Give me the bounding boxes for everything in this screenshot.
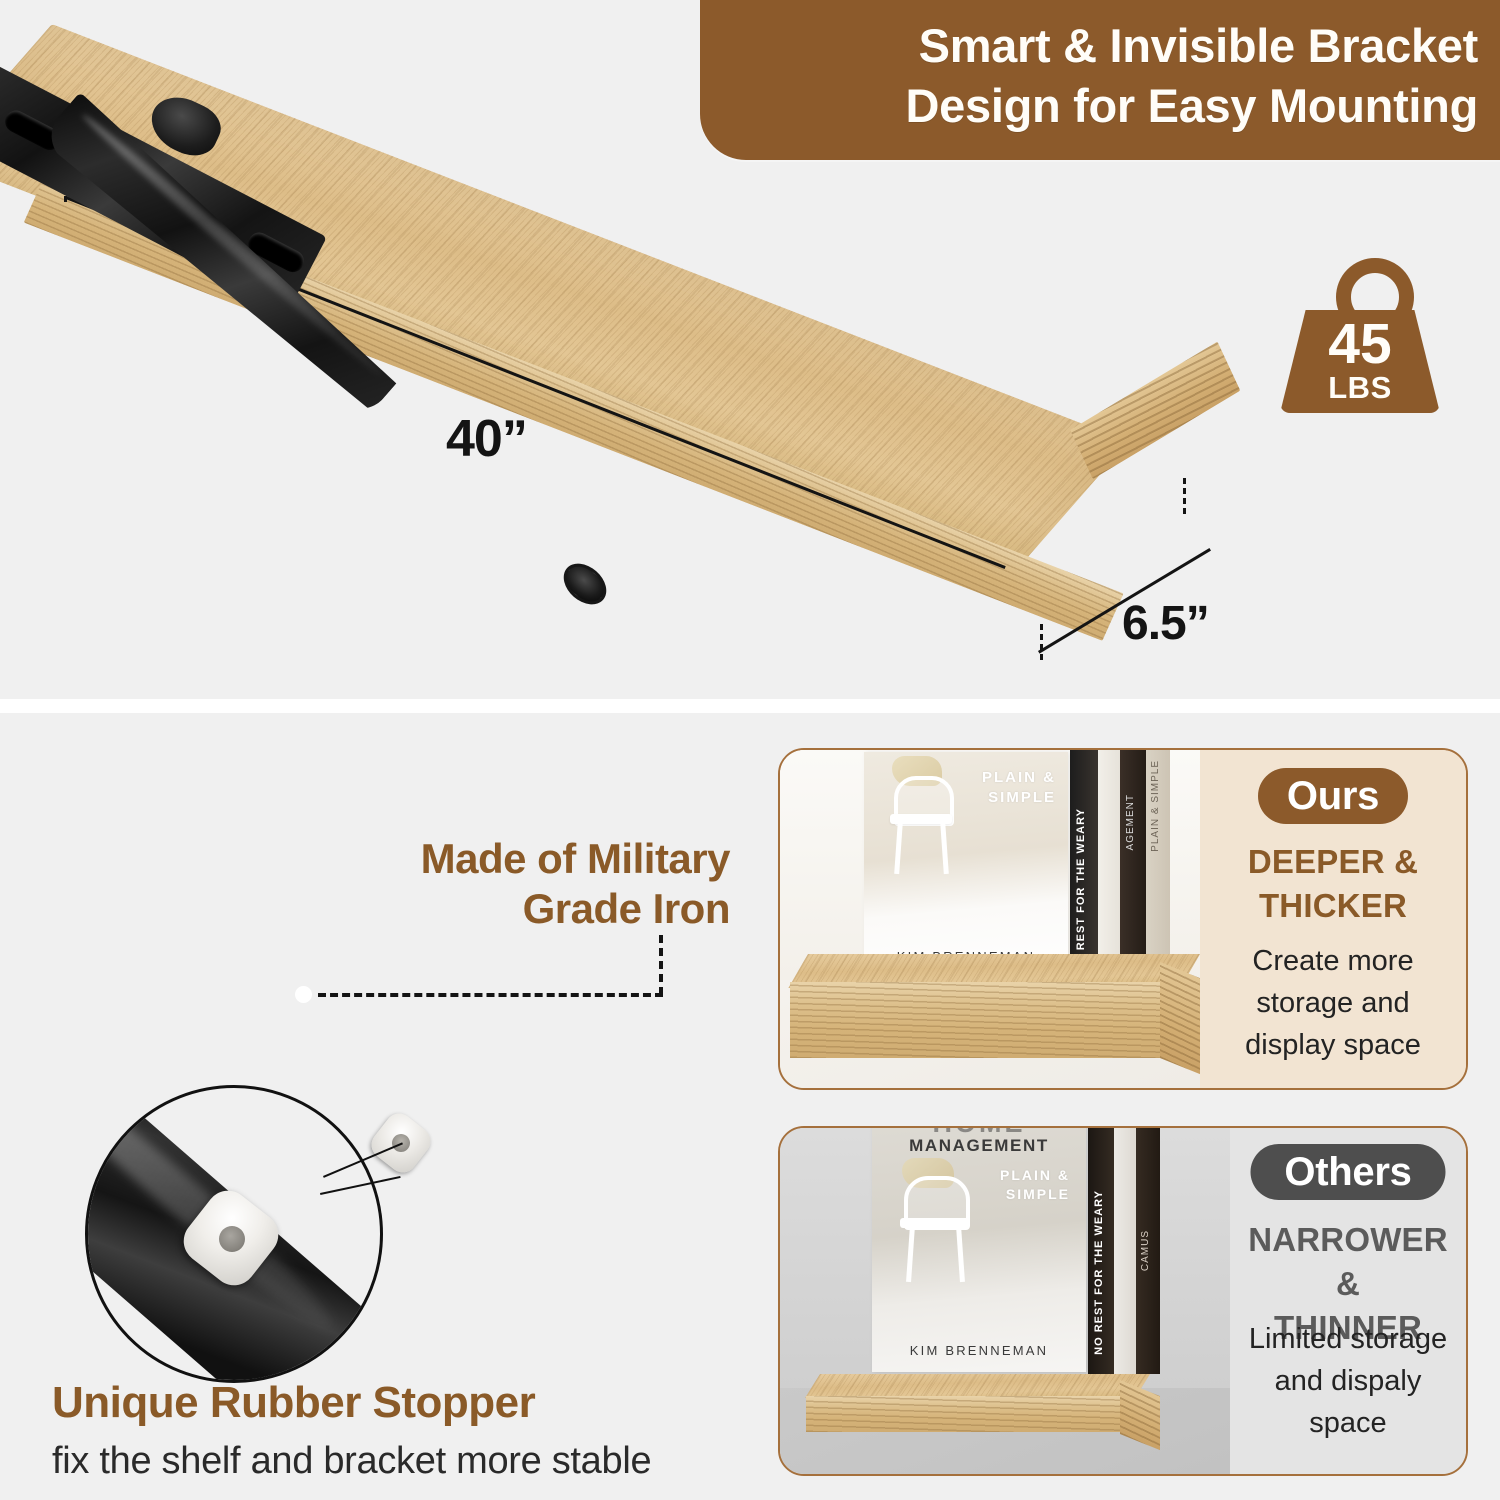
iron-callout-dashed-elbow — [659, 935, 663, 995]
chair-leg — [956, 1226, 965, 1282]
others-book-title-line1: PLAIN & — [1000, 1166, 1070, 1185]
others-text-panel: Others NARROWER & THINNER Limited storag… — [1230, 1128, 1466, 1474]
ours-heading-line1: DEEPER & — [1208, 840, 1458, 884]
comparison-card-others: HOME MANAGEMENT PLAIN & SIMPLE KIM BRENN… — [778, 1126, 1468, 1476]
length-dimension-label: 40” — [446, 409, 527, 469]
weight-value: 45 — [1280, 316, 1440, 373]
ours-book-chair-graphic — [884, 770, 962, 878]
header-title-line1: Smart & Invisible Bracket — [700, 16, 1478, 76]
others-book-title-line2: SIMPLE — [1000, 1185, 1070, 1204]
chair-leg — [894, 822, 903, 874]
others-book-title: PLAIN & SIMPLE — [1000, 1166, 1070, 1204]
others-badge: Others — [1251, 1144, 1446, 1200]
ours-book-title-line1: PLAIN & — [982, 768, 1056, 788]
rubber-stopper-subtitle: fix the shelf and bracket more stable — [52, 1440, 651, 1483]
military-grade-line1: Made of Military — [330, 834, 730, 884]
section-divider — [0, 699, 1500, 713]
infographic-page: 40” 6.5” Smart & Invisible Bracket Desig… — [0, 0, 1500, 1500]
ours-book-title: PLAIN & SIMPLE — [982, 768, 1056, 808]
ours-body-line3: display space — [1210, 1024, 1456, 1066]
chair-leg — [906, 1226, 915, 1282]
ours-shelf-end — [1160, 962, 1200, 1081]
military-grade-line2: Grade Iron — [330, 884, 730, 934]
others-book-cover: HOME MANAGEMENT PLAIN & SIMPLE KIM BRENN… — [872, 1128, 1086, 1372]
others-body-line2: and dispaly — [1240, 1360, 1456, 1402]
depth-extension-tick-right — [1183, 478, 1186, 514]
ours-book-title-line2: SIMPLE — [982, 788, 1056, 808]
ours-photo: PLAIN & SIMPLE KIM BRENNEMAN NO REST FOR… — [780, 750, 1200, 1088]
chair-leg — [940, 822, 949, 874]
others-book-spine: CAMUS — [1136, 1128, 1160, 1374]
ours-heading-line2: THICKER — [1208, 884, 1458, 928]
ours-heading: DEEPER & THICKER — [1208, 840, 1458, 928]
magnifier-callout — [85, 1085, 383, 1383]
header-title-line2: Design for Easy Mounting — [700, 76, 1478, 136]
ours-book-spine: AGEMENT — [1120, 750, 1146, 982]
others-body-line1: Limited storage — [1240, 1318, 1456, 1360]
others-spine-text: NO REST FOR THE WEARY — [1093, 1190, 1105, 1355]
others-book-spine — [1114, 1128, 1136, 1374]
comparison-card-ours: PLAIN & SIMPLE KIM BRENNEMAN NO REST FOR… — [778, 748, 1468, 1090]
top-product-section: 40” 6.5” Smart & Invisible Bracket Desig… — [0, 0, 1500, 704]
ours-spine-text: AGEMENT — [1125, 794, 1136, 850]
weight-capacity-icon: 45 LBS — [1280, 258, 1440, 413]
ours-spine-text: NO REST FOR THE WEARY — [1075, 808, 1087, 973]
others-heading-line1: NARROWER & — [1238, 1218, 1458, 1306]
iron-callout-dashed-line — [318, 993, 663, 997]
others-book-chair-graphic — [894, 1170, 980, 1286]
others-spine-text: CAMUS — [1140, 1230, 1151, 1271]
others-photo: HOME MANAGEMENT PLAIN & SIMPLE KIM BRENN… — [780, 1128, 1230, 1474]
others-book-author: KIM BRENNEMAN — [872, 1343, 1086, 1358]
depth-extension-tick-left — [1040, 624, 1043, 660]
ours-body-line1: Create more — [1210, 940, 1456, 982]
ours-text-panel: Ours DEEPER & THICKER Create more storag… — [1200, 750, 1466, 1088]
ours-badge: Ours — [1258, 768, 1408, 824]
shelf-end-cap — [1070, 341, 1240, 479]
ours-book-cover: PLAIN & SIMPLE KIM BRENNEMAN — [864, 752, 1068, 980]
ours-book-spine: PLAIN & SIMPLE — [1146, 750, 1170, 982]
rubber-stopper-title: Unique Rubber Stopper — [52, 1378, 535, 1428]
others-body-text: Limited storage and dispaly space — [1240, 1318, 1456, 1444]
header-banner: Smart & Invisible Bracket Design for Eas… — [700, 0, 1500, 160]
others-shelf-front — [806, 1396, 1136, 1432]
depth-dimension-label: 6.5” — [1122, 596, 1209, 651]
others-book-title-sub: MANAGEMENT — [872, 1136, 1086, 1156]
ours-spine-text: PLAIN & SIMPLE — [1150, 760, 1161, 852]
others-shelf-top — [805, 1374, 1150, 1398]
ours-book-spine: NO REST FOR THE WEARY — [1070, 750, 1098, 982]
ours-shelf-front — [790, 982, 1182, 1058]
weight-unit: LBS — [1280, 372, 1440, 403]
others-shelf-end — [1120, 1380, 1160, 1450]
ours-body-text: Create more storage and display space — [1210, 940, 1456, 1066]
others-body-line3: space — [1240, 1402, 1456, 1444]
others-book-spine: NO REST FOR THE WEARY — [1088, 1128, 1114, 1374]
ours-body-line2: storage and — [1210, 982, 1456, 1024]
military-grade-title: Made of Military Grade Iron — [330, 834, 730, 934]
ours-book-spine — [1098, 750, 1120, 982]
rod-pin-hole — [295, 986, 312, 1003]
magnified-stopper-hole — [219, 1226, 245, 1252]
